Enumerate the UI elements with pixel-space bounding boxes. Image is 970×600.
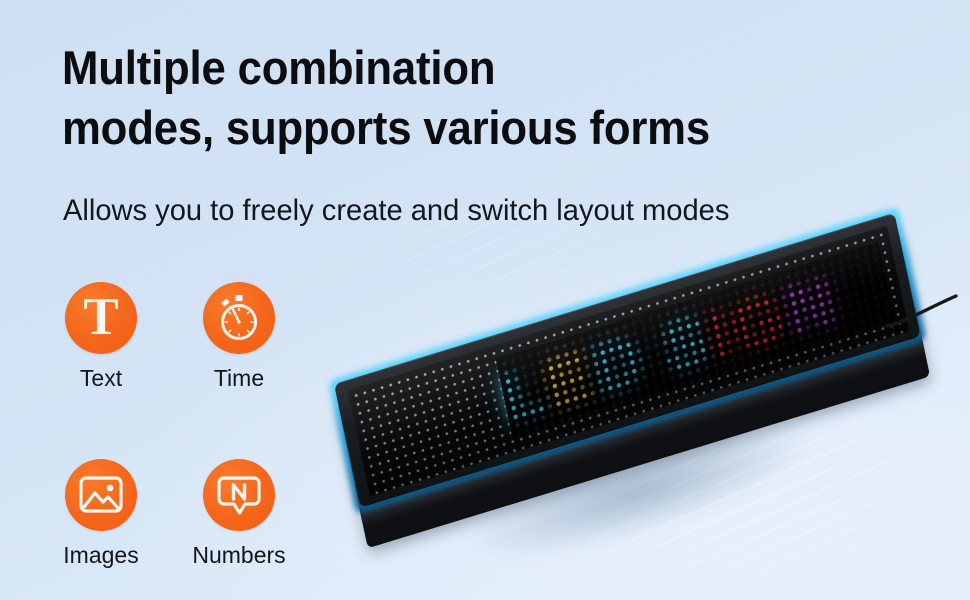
feature-label: Images [63, 542, 138, 568]
feature-label: Time [214, 365, 264, 391]
feature-list: T Text [60, 282, 310, 568]
feature-item-text[interactable]: T Text [60, 282, 142, 391]
power-cable-icon [884, 292, 964, 352]
feature-label: Text [80, 365, 122, 391]
letter-t-icon: T [65, 282, 137, 354]
feature-row: T Text [60, 282, 310, 391]
product-image-led-sign: L E D S I G N [318, 262, 970, 562]
feature-item-time[interactable]: Time [198, 282, 280, 391]
page-title: Multiple combination modes, supports var… [62, 38, 769, 158]
feature-item-numbers[interactable]: Numbers [198, 459, 280, 568]
led-letter: S [657, 305, 714, 383]
led-letter-space [645, 351, 660, 356]
feature-item-images[interactable]: Images [60, 459, 142, 568]
promo-banner: Multiple combination modes, supports var… [0, 0, 970, 600]
led-letter: G [726, 281, 790, 361]
feature-label: Numbers [192, 542, 285, 568]
number-bubble-icon [203, 459, 275, 531]
letter-t-glyph: T [83, 291, 118, 344]
feature-row: Images Numbers [60, 459, 310, 568]
page-subtitle: Allows you to freely create and switch l… [63, 192, 897, 230]
image-picture-icon [65, 459, 137, 531]
led-letter: D [587, 325, 647, 404]
stopwatch-icon [203, 282, 275, 354]
led-letter: N [780, 266, 840, 345]
